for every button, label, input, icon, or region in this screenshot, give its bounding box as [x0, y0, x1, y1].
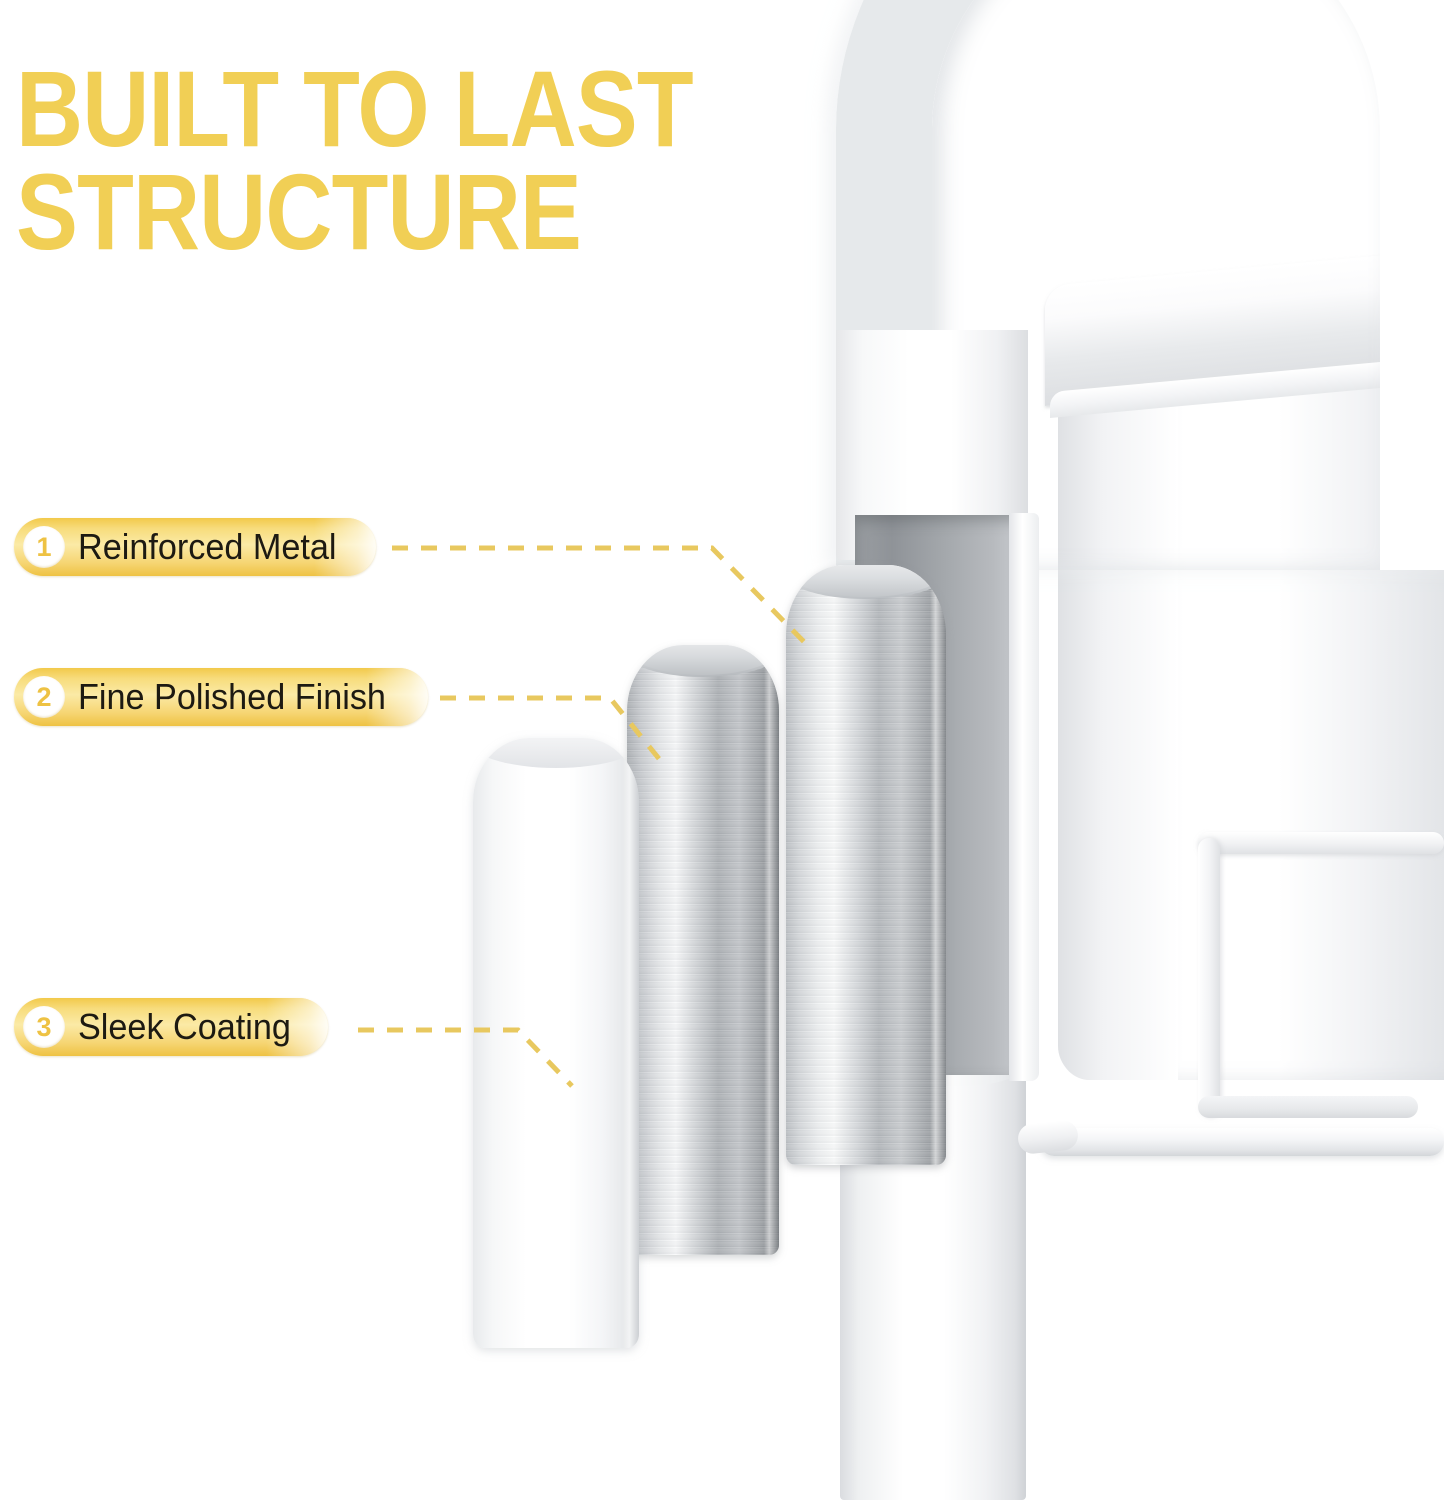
product-illustration [0, 0, 1444, 1500]
coating-bevel [623, 738, 639, 1348]
sleeve-outer-bevel [764, 645, 779, 1255]
callout-number-badge: 2 [23, 676, 65, 718]
coating-notch-shade [473, 738, 639, 768]
wire-bracket-left-leg [1198, 838, 1220, 1118]
metal-texture-outer [627, 645, 779, 1255]
wire-bracket-bottom [1198, 1096, 1418, 1118]
metal-texture-inner [786, 565, 946, 1165]
sleeve-inner-bevel [930, 565, 946, 1165]
callout-sleek-coating[interactable]: 3 Sleek Coating [14, 998, 328, 1056]
metal-sleeve-inner [786, 565, 946, 1165]
wire-bracket-top [1198, 832, 1444, 854]
callout-label: Reinforced Metal [78, 526, 337, 568]
callout-number-badge: 3 [23, 1006, 65, 1048]
callout-fine-polished-finish[interactable]: 2 Fine Polished Finish [14, 668, 428, 726]
callout-reinforced-metal[interactable]: 1 Reinforced Metal [14, 518, 376, 576]
product-feature-infographic: BUILT TO LAST STRUCTURE 1 Reinforced Met… [0, 0, 1444, 1500]
callout-number-badge: 1 [23, 526, 65, 568]
sleeve-recess-rim [1009, 513, 1039, 1081]
callout-label: Fine Polished Finish [78, 676, 386, 718]
white-coating-shell [473, 738, 639, 1348]
wire-rail [1040, 1128, 1444, 1156]
metal-sleeve-outer [627, 645, 779, 1255]
callout-label: Sleek Coating [78, 1006, 291, 1048]
